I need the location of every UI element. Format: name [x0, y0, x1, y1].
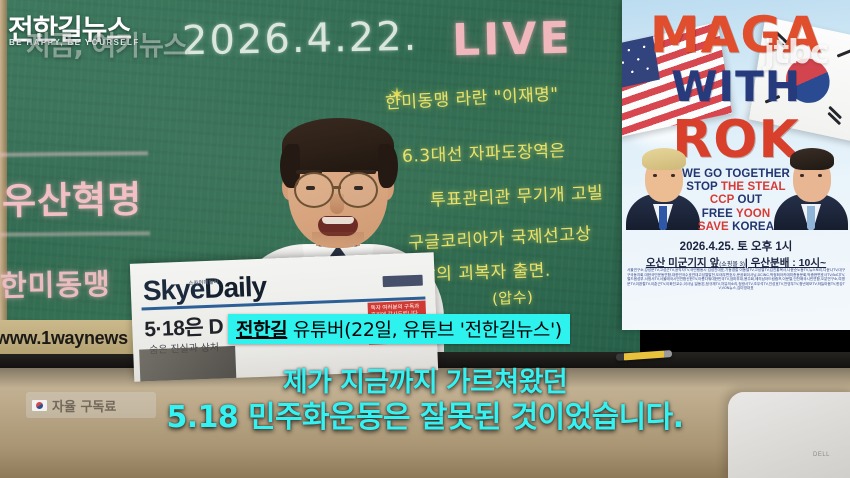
laptop-brand-logo: DELL: [813, 452, 830, 458]
hair-shape: [642, 148, 686, 170]
poster-slogan-text: CCP: [710, 194, 738, 206]
speaker-badge-detail: 유튜버(22일, 유튜브 '전한길뉴스'): [287, 319, 562, 341]
poster-slogan-text: FREE: [702, 208, 736, 220]
blackboard-date-text: 2026.4.22.: [182, 14, 419, 65]
jtbc-watermark: jtbc: [764, 32, 828, 71]
fineprint-text: 서울연구소,강성문TV,고성군TV,공직자TV,국민행동시 김성진대표,기동경찰…: [627, 268, 845, 290]
subscription-fee-label: 자율 구독료: [52, 396, 116, 415]
poster-slogan-line: STOP THE STEAL: [666, 181, 806, 194]
eyeglasses-left-lens: [294, 172, 334, 208]
poster-slogan-line: FREE YOON: [666, 208, 806, 221]
newspaper-masthead: SkyeDaily 스카이데일리: [142, 271, 266, 308]
poster-slogan-text: SAVE: [698, 221, 732, 233]
poster-slogan-block: WE GO TOGETHERSTOP THE STEALCCP OUTFREE …: [666, 168, 806, 234]
blackboard-note-line: 합의 괴복자 출면.: [420, 256, 551, 286]
korea-flag-icon: [32, 400, 47, 411]
poster-slogan-line: CCP OUT: [666, 194, 806, 207]
chin-shadow: [312, 232, 364, 246]
eye-shape: [818, 174, 822, 177]
poster-slogan-text: YOON: [736, 208, 770, 220]
masthead-skye: Skye: [142, 273, 205, 306]
poster-slogan-line: SAVE KOREA: [666, 221, 806, 234]
tie-shape: [807, 206, 815, 230]
speaker-name-badge: 전한길 유튜버(22일, 유튜브 '전한길뉴스'): [228, 314, 570, 344]
poster-slogan-text: STOP: [686, 181, 721, 193]
website-url-text: www.1waynews: [0, 328, 128, 349]
channel-logo-ghost-overlay: 지금, 여기뉴스: [26, 24, 187, 63]
newspaper-corner-tag: [383, 275, 423, 288]
video-frame: 2026.4.22. LIVE 우산혁명 한미동맹 ✶ 한미동맹 라란 "이재명…: [0, 0, 850, 478]
eyeglasses-right-lens: [338, 172, 378, 208]
poster-event-date: 2026.4.25. 토 오후 1시: [642, 238, 830, 254]
poster-slogan-text: THE STEAL: [721, 181, 786, 193]
speaker-badge-text: 전한길 유튜버(22일, 유튜브 '전한길뉴스'): [236, 315, 562, 342]
eye-shape: [653, 174, 657, 177]
poster-slogan-text: WE GO TOGETHER: [682, 168, 790, 180]
masthead-daily: Daily: [204, 271, 267, 304]
poster-slogan-text: OUT: [738, 194, 763, 206]
poster-slogan-text: KOREA: [732, 221, 774, 233]
subscription-fee-overlay: 자율 구독료: [26, 392, 156, 418]
speaker-badge-name: 전한길: [236, 319, 287, 341]
eyeglasses-bridge: [333, 186, 341, 189]
nose-shape: [330, 194, 344, 214]
poster-slogan-line: WE GO TOGETHER: [666, 168, 806, 181]
teeth-shape: [322, 217, 354, 224]
blackboard-umbrella-revolution-text: 우산혁명: [2, 169, 143, 225]
poster-event-info: 2026.4.25. 토 오후 1시 오산 미군기지 앞(쇼핑몰 3)| 우산분…: [642, 238, 830, 270]
hair-side-right: [378, 144, 398, 188]
blackboard-note-line: (압수): [491, 286, 533, 309]
masthead-korean-subtitle: 스카이데일리: [188, 278, 218, 286]
blackboard-live-text: LIVE: [451, 13, 573, 67]
blackboard-alliance-text: 한미동맹: [0, 261, 111, 305]
poster-sponsor-fineprint: 서울연구소,강성문TV,고성군TV,공직자TV,국민행동시 김성진대표,기동경찰…: [626, 268, 846, 328]
hair-shape: [790, 148, 834, 170]
